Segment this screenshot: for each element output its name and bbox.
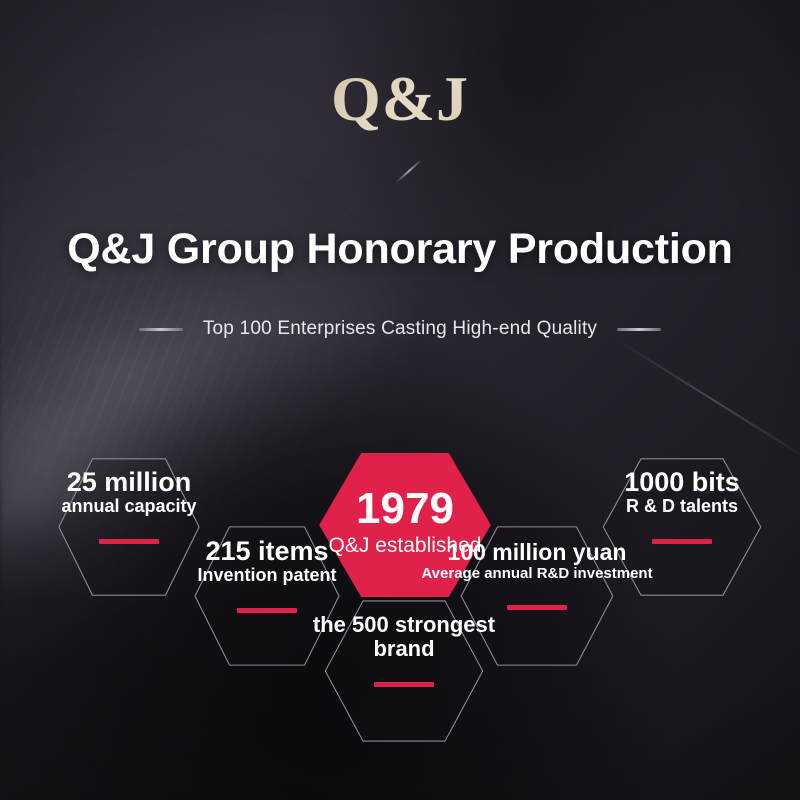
- stats-honeycomb: 25 million annual capacity 215 items Inv…: [0, 0, 800, 800]
- hex-value: 1000 bits: [624, 468, 740, 496]
- hex-label: R & D talents: [626, 496, 738, 518]
- hex-value: 25 million: [67, 468, 192, 496]
- hex-accent-bar: [374, 682, 434, 687]
- hex-accent-bar: [507, 605, 567, 610]
- hex-label: Average annual R&D investment: [421, 565, 652, 583]
- hex-annual-capacity[interactable]: 25 million annual capacity: [56, 456, 202, 598]
- hex-label: annual capacity: [61, 496, 196, 518]
- hex-label: Invention patent: [198, 565, 337, 587]
- hex-value: 1979: [356, 486, 454, 532]
- hex-accent-bar: [652, 539, 712, 544]
- hex-value-line2: brand: [373, 637, 434, 660]
- hex-accent-bar: [99, 539, 159, 544]
- hex-value: 215 items: [205, 537, 328, 565]
- hex-accent-bar: [237, 608, 297, 613]
